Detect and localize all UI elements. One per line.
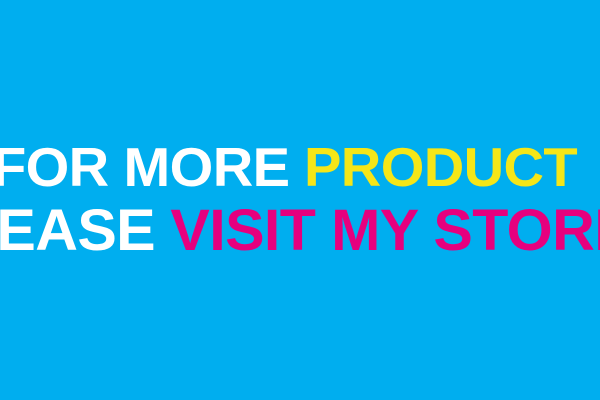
- headline-line-2-magenta-segment: VISIT MY STORE: [170, 198, 600, 257]
- headline-line-1-yellow-segment: PRODUCT: [304, 136, 577, 198]
- promo-banner: FOR MOREPRODUCT PLEASEVISIT MY STORE: [0, 0, 600, 400]
- headline-line-1: FOR MOREPRODUCT: [0, 140, 577, 195]
- headline-line-1-white-segment: FOR MORE: [0, 136, 289, 198]
- headline-block: FOR MOREPRODUCT PLEASEVISIT MY STORE: [0, 131, 600, 257]
- headline-line-2: PLEASEVISIT MY STORE: [0, 202, 600, 257]
- headline-line-2-white-segment: PLEASE: [0, 198, 155, 257]
